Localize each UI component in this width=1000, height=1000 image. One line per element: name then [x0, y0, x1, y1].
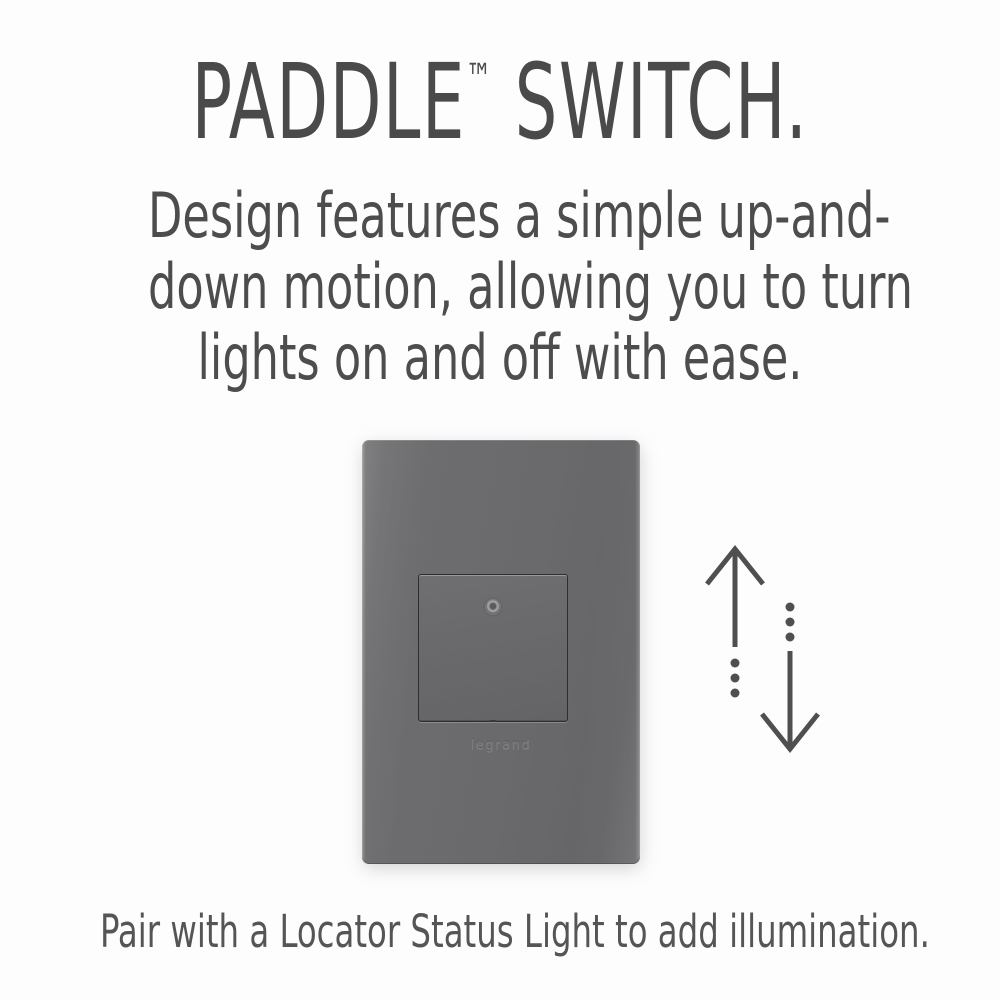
down-arrow-icon [762, 603, 818, 750]
paddle-bottom-notch [490, 720, 496, 722]
subtitle-line-1: Design features a simple up-and- [148, 180, 852, 251]
wall-plate: legrand [362, 440, 640, 864]
wall-plate-right-bevel [635, 442, 640, 860]
subtitle-block: Design features a simple up-and- down mo… [148, 180, 852, 393]
subtitle-line-2: down motion, allowing you to turn [148, 251, 852, 322]
up-down-motion-diagram [700, 535, 835, 765]
paddle-recess [418, 574, 568, 722]
motion-arrows-svg [700, 535, 835, 765]
up-arrow-icon [707, 549, 763, 698]
subtitle-line-3: lights on and off with ease. [148, 322, 852, 393]
page-title-main: PADDLE [191, 41, 465, 163]
up-arrow-dot-3 [731, 689, 740, 698]
legrand-wordmark: legrand [362, 738, 640, 753]
down-arrow-dot-1 [786, 603, 795, 612]
wall-plate-left-bevel [362, 442, 366, 860]
page-title-suffix: SWITCH. [492, 41, 809, 163]
product-image-paddle-switch: legrand [358, 436, 644, 868]
locator-status-light-icon [485, 599, 501, 615]
down-arrow-dot-3 [786, 633, 795, 642]
trademark-symbol: ™ [466, 56, 492, 102]
up-arrow-dot-1 [731, 659, 740, 668]
footer-caption: Pair with a Locator Status Light to add … [100, 906, 900, 958]
paddle-switch-button[interactable] [418, 574, 568, 722]
up-arrow-dot-2 [731, 674, 740, 683]
page-title: PADDLE™ SWITCH. [140, 20, 860, 161]
down-arrow-dot-2 [786, 618, 795, 627]
